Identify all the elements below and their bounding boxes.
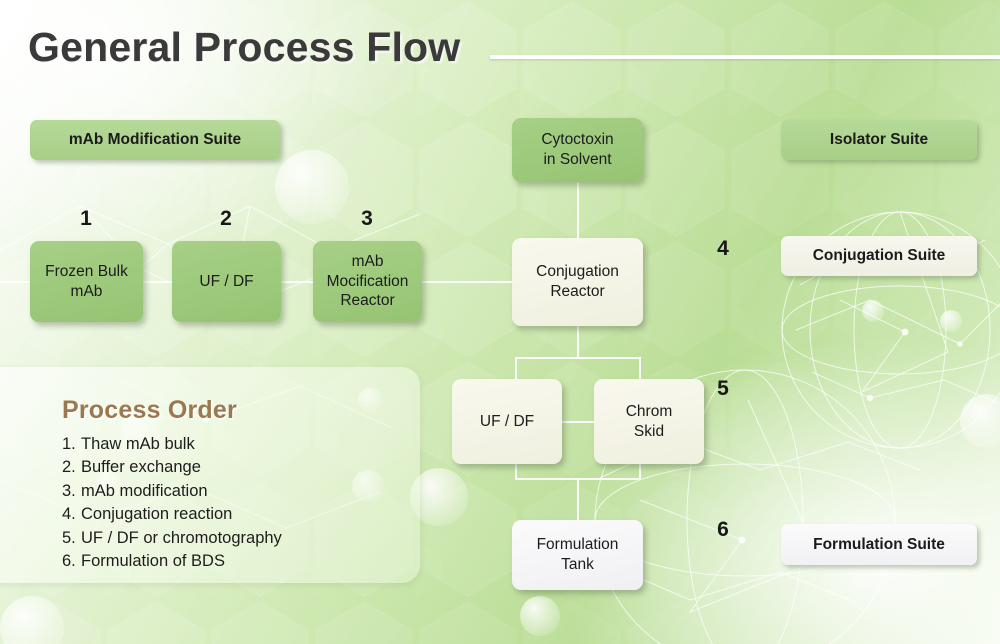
list-item-text: Conjugation reaction	[81, 505, 232, 523]
bokeh-circle	[940, 310, 962, 332]
node-label: ConjugationReactor	[536, 262, 619, 301]
bokeh-circle	[520, 596, 560, 636]
node-label: FormulationTank	[537, 535, 619, 574]
bokeh-circle	[960, 394, 1000, 448]
suite-label-text: Formulation Suite	[813, 536, 945, 554]
process-order-title: Process Order	[62, 396, 237, 425]
suite-label-text: mAb Modification Suite	[69, 131, 241, 149]
connector-reactor-to-conjugation	[412, 281, 522, 283]
node-label: UF / DF	[199, 272, 253, 292]
list-item-number: 1.	[62, 433, 81, 456]
list-item-number: 3.	[62, 480, 81, 503]
node-mab-modification-reactor[interactable]: mAbMocificationReactor	[313, 241, 422, 322]
bokeh-circle	[0, 596, 64, 644]
suite-label-isolator[interactable]: Isolator Suite	[781, 120, 977, 160]
process-flow-slide: General Process Flow Frozen BulkmAb UF /…	[0, 0, 1000, 644]
page-title: General Process Flow	[28, 24, 460, 71]
list-item-text: UF / DF or chromotography	[81, 529, 282, 547]
list-item-text: Thaw mAb bulk	[81, 435, 195, 453]
node-uf-df-1[interactable]: UF / DF	[172, 241, 281, 322]
list-item: 4.Conjugation reaction	[62, 503, 282, 526]
node-label: Frozen BulkmAb	[45, 262, 128, 301]
list-item: 2.Buffer exchange	[62, 456, 282, 479]
bokeh-circle	[862, 300, 884, 322]
step-number-1: 1	[66, 207, 106, 231]
step-number-6: 6	[703, 518, 743, 542]
list-item: 6.Formulation of BDS	[62, 550, 282, 573]
node-conjugation-reactor[interactable]: ConjugationReactor	[512, 238, 643, 326]
node-label: ChromSkid	[626, 402, 673, 441]
node-cytoctoxin-in-solvent[interactable]: Cytoctoxinin Solvent	[512, 118, 643, 182]
step-number-4: 4	[703, 237, 743, 261]
title-divider	[490, 55, 1000, 59]
list-item-number: 2.	[62, 456, 81, 479]
list-item: 5.UF / DF or chromotography	[62, 527, 282, 550]
node-chrom-skid[interactable]: ChromSkid	[594, 379, 704, 464]
list-item-text: mAb modification	[81, 482, 208, 500]
list-item-number: 5.	[62, 527, 81, 550]
node-label: mAbMocificationReactor	[327, 252, 409, 311]
step-number-5: 5	[703, 377, 743, 401]
list-item-number: 4.	[62, 503, 81, 526]
node-label: UF / DF	[480, 412, 534, 432]
list-item-text: Formulation of BDS	[81, 552, 225, 570]
list-item: 1.Thaw mAb bulk	[62, 433, 282, 456]
list-item-number: 6.	[62, 550, 81, 573]
suite-label-conjugation[interactable]: Conjugation Suite	[781, 236, 977, 276]
connector-branch-top	[515, 357, 641, 359]
node-formulation-tank[interactable]: FormulationTank	[512, 520, 643, 590]
node-label: Cytoctoxinin Solvent	[541, 130, 613, 169]
list-item: 3.mAb modification	[62, 480, 282, 503]
node-uf-df-2[interactable]: UF / DF	[452, 379, 562, 464]
step-number-3: 3	[347, 207, 387, 231]
connector-branch-bottom	[515, 478, 641, 480]
suite-label-text: Isolator Suite	[830, 131, 928, 149]
bokeh-circle	[275, 150, 349, 224]
suite-label-formulation[interactable]: Formulation Suite	[781, 524, 977, 565]
process-order-list: 1.Thaw mAb bulk 2.Buffer exchange 3.mAb …	[62, 433, 282, 573]
connector-branch-to-formulation	[577, 478, 579, 522]
list-item-text: Buffer exchange	[81, 458, 201, 476]
suite-label-mab-modification[interactable]: mAb Modification Suite	[30, 120, 280, 160]
suite-label-text: Conjugation Suite	[813, 247, 946, 265]
node-frozen-bulk-mab[interactable]: Frozen BulkmAb	[30, 241, 143, 322]
connector-cytoctoxin-to-conjugation	[577, 176, 579, 242]
step-number-2: 2	[206, 207, 246, 231]
